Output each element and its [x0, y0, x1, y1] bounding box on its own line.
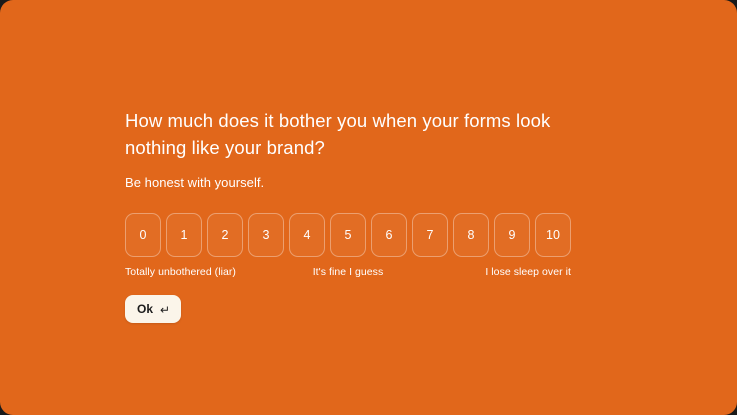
question-block: How much does it bother you when your fo… [125, 107, 625, 323]
rating-option-10[interactable]: 10 [535, 213, 571, 257]
ok-button[interactable]: Ok ↵ [125, 295, 181, 323]
rating-option-5[interactable]: 5 [330, 213, 366, 257]
question-subtitle: Be honest with yourself. [125, 173, 625, 192]
form-screen: How much does it bother you when your fo… [0, 0, 737, 415]
enter-key-icon: ↵ [160, 304, 170, 316]
rating-option-7[interactable]: 7 [412, 213, 448, 257]
submit-row: Ok ↵ [125, 295, 625, 323]
rating-option-8[interactable]: 8 [453, 213, 489, 257]
scale-label-mid: It's fine I guess [313, 264, 384, 280]
scale-label-low: Totally unbothered (liar) [125, 264, 236, 280]
rating-option-4[interactable]: 4 [289, 213, 325, 257]
ok-button-label: Ok [137, 302, 153, 316]
question-title: How much does it bother you when your fo… [125, 107, 603, 161]
rating-option-2[interactable]: 2 [207, 213, 243, 257]
rating-scale-options: 0 1 2 3 4 5 6 7 8 9 10 [125, 213, 571, 257]
rating-option-3[interactable]: 3 [248, 213, 284, 257]
rating-scale: 0 1 2 3 4 5 6 7 8 9 10 Totally unbothere… [125, 213, 571, 280]
rating-option-9[interactable]: 9 [494, 213, 530, 257]
scale-label-high: I lose sleep over it [485, 264, 571, 280]
rating-option-0[interactable]: 0 [125, 213, 161, 257]
rating-option-1[interactable]: 1 [166, 213, 202, 257]
rating-option-6[interactable]: 6 [371, 213, 407, 257]
rating-scale-anchor-labels: Totally unbothered (liar) It's fine I gu… [125, 264, 571, 280]
